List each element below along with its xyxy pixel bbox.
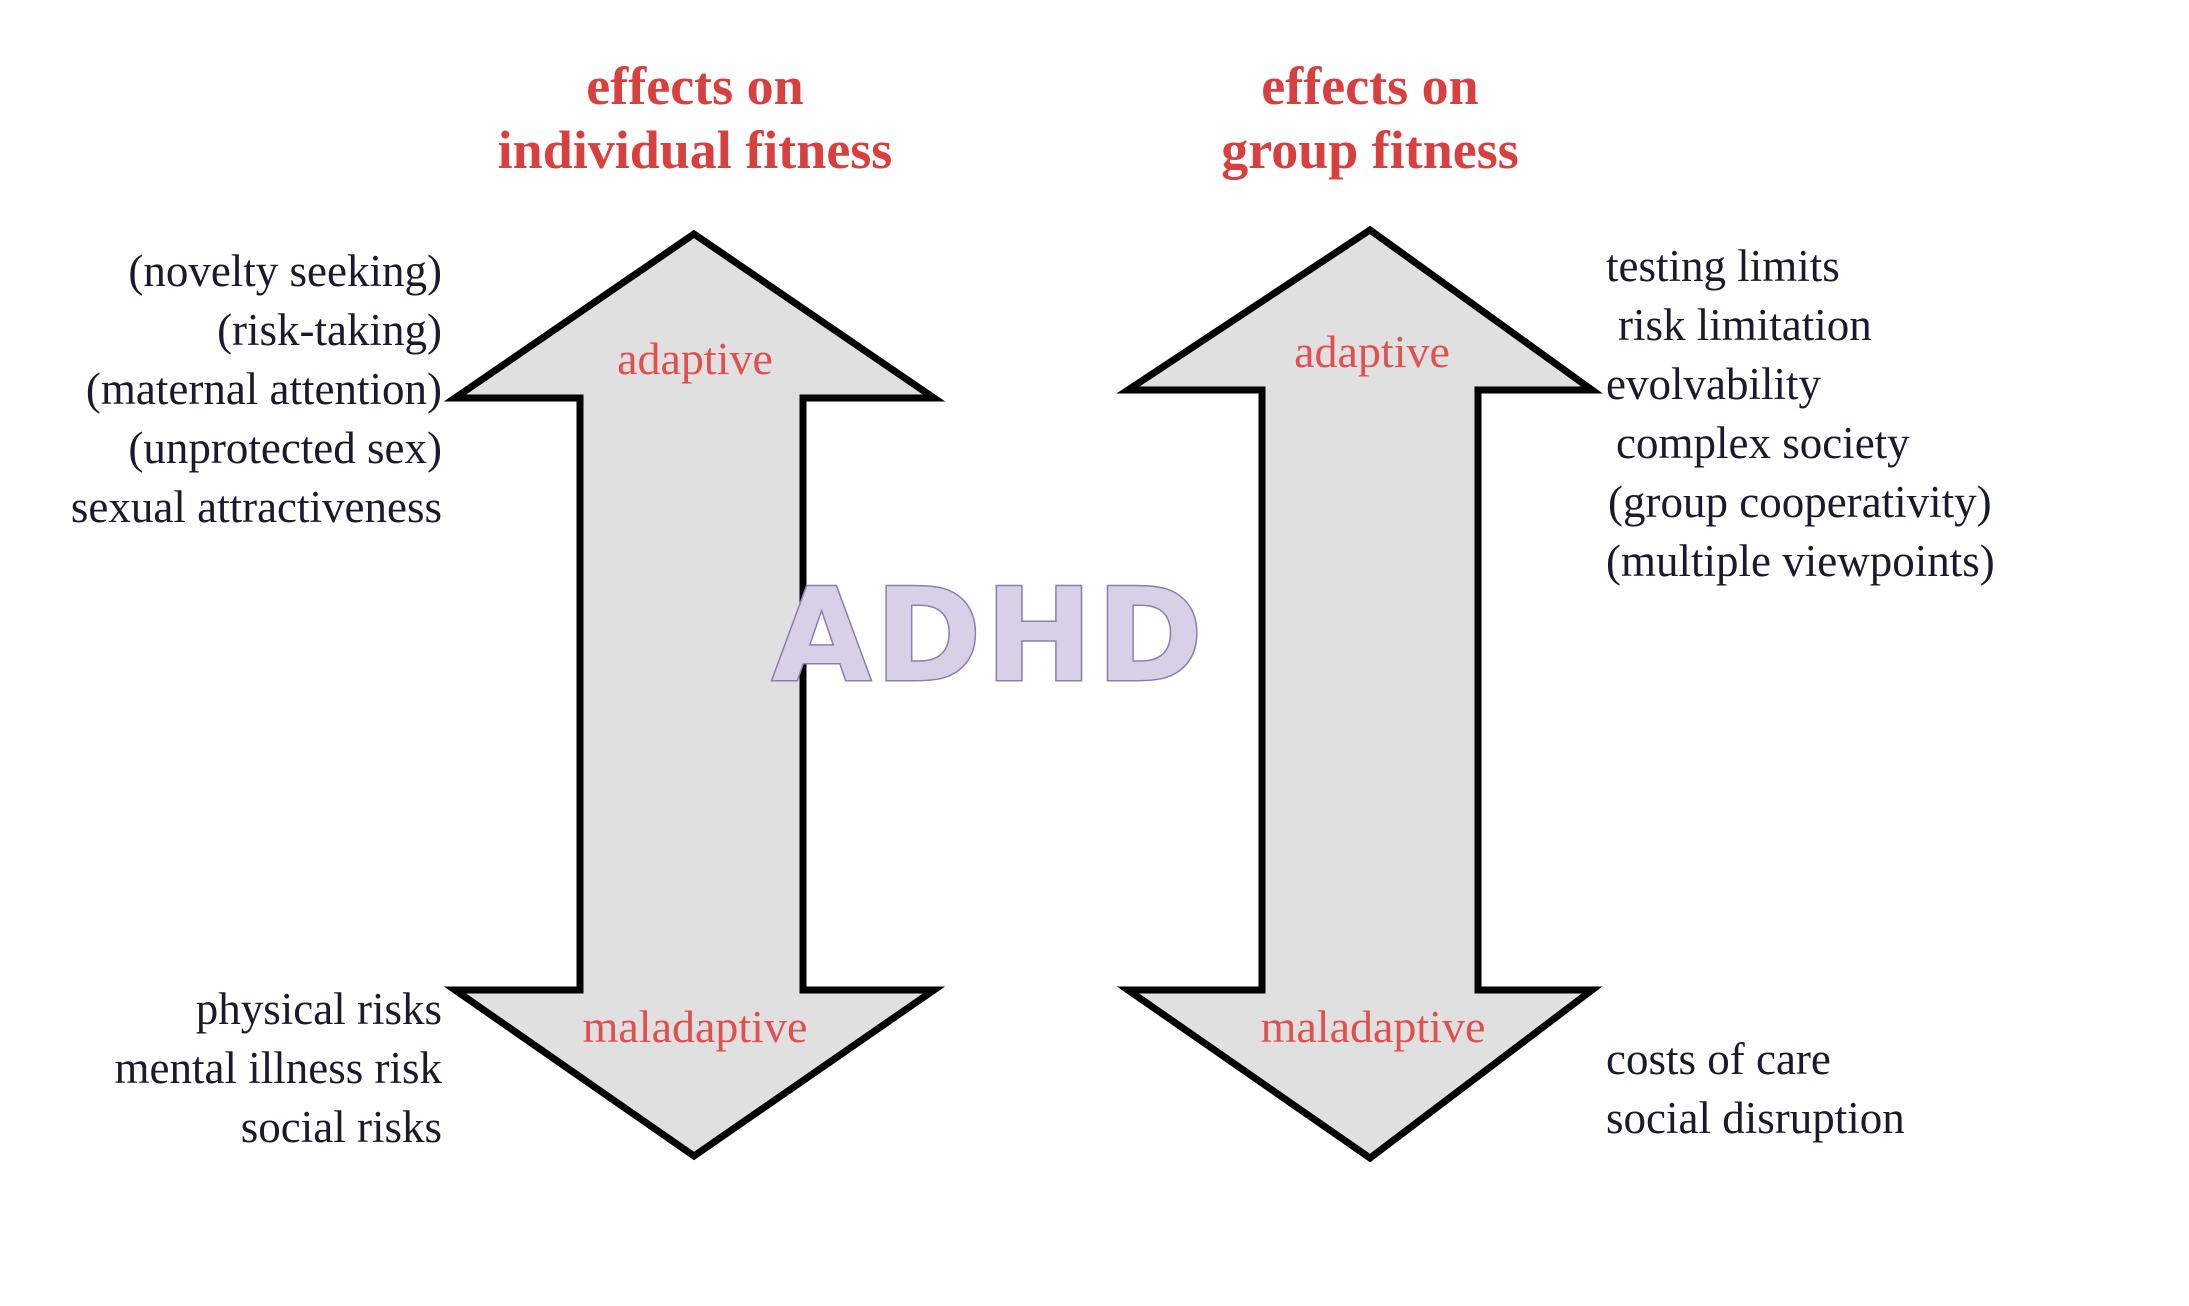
list-item: (multiple viewpoints)	[1606, 532, 2186, 591]
arrow-label-adaptive-individual: adaptive	[545, 332, 845, 385]
list-item: costs of care	[1606, 1030, 2186, 1089]
adhd-wordmark: ADHD	[772, 573, 1172, 701]
list-individual-adaptive: (novelty seeking) (risk-taking) (materna…	[0, 242, 442, 537]
heading-individual-fitness: effects on individual fitness	[380, 55, 1010, 182]
list-item: sexual attractiveness	[0, 478, 442, 537]
list-item: complex society	[1606, 414, 2186, 473]
list-item: (risk-taking)	[0, 301, 442, 360]
heading-group-line1: effects on	[1130, 55, 1610, 119]
diagram-canvas: effects on individual fitness effects on…	[0, 0, 2189, 1306]
list-item: social risks	[10, 1098, 442, 1157]
list-group-adaptive: testing limits risk limitation evolvabil…	[1606, 237, 2186, 591]
list-item: (group cooperativity)	[1606, 473, 2186, 532]
list-individual-maladaptive: physical risks mental illness risk socia…	[10, 980, 442, 1157]
list-item: (novelty seeking)	[0, 242, 442, 301]
list-item: (unprotected sex)	[0, 419, 442, 478]
list-item: social disruption	[1606, 1089, 2186, 1148]
list-item: mental illness risk	[10, 1039, 442, 1098]
arrow-label-adaptive-group: adaptive	[1222, 325, 1522, 378]
list-item: (maternal attention)	[0, 360, 442, 419]
arrow-label-maladaptive-individual: maladaptive	[520, 1000, 870, 1053]
list-item: physical risks	[10, 980, 442, 1039]
heading-individual-line2: individual fitness	[380, 119, 1010, 183]
list-item: evolvability	[1606, 355, 2186, 414]
arrow-label-maladaptive-group: maladaptive	[1198, 1000, 1548, 1053]
list-group-maladaptive: costs of care social disruption	[1606, 1030, 2186, 1148]
heading-group-line2: group fitness	[1130, 119, 1610, 183]
list-item: risk limitation	[1606, 296, 2186, 355]
heading-individual-line1: effects on	[380, 55, 1010, 119]
heading-group-fitness: effects on group fitness	[1130, 55, 1610, 182]
list-item: testing limits	[1606, 237, 2186, 296]
